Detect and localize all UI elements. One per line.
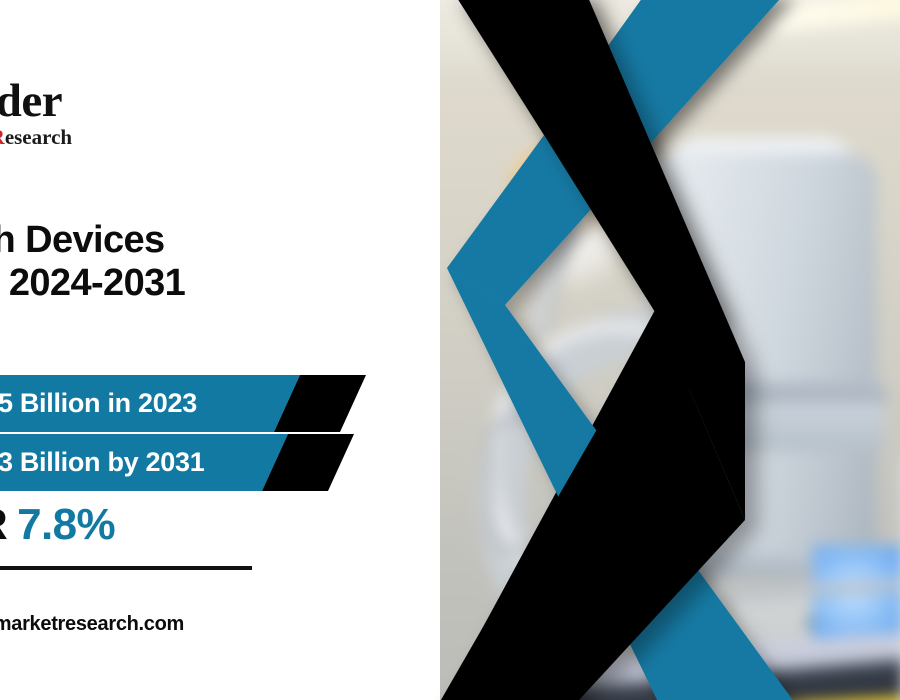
page-title: Global Biotech Devices Market 2024-2031 (0, 176, 440, 305)
brand-logo[interactable]: Insider MarketResearch (0, 78, 132, 156)
stat-banner-2023-label: USD 20.5 Billion in 2023 (0, 375, 300, 432)
stat-banner-2023: USD 20.5 Billion in 2023 (0, 375, 380, 432)
cagr-line: CAGR7.8% (0, 500, 115, 550)
cagr-label: CAGR (0, 500, 7, 549)
website-url[interactable]: www.insidermarketresearch.com (0, 613, 184, 636)
cagr-value: 7.8% (17, 500, 115, 549)
stat-banner-2031-label: USD 37.3 Billion by 2031 (0, 434, 288, 491)
logo-wordmark: Insider (0, 78, 132, 125)
stat-banner-2031: USD 37.3 Billion by 2031 (0, 434, 380, 491)
logo-tagline: MarketResearch (0, 127, 132, 148)
logo-research-rest: esearch (5, 125, 72, 149)
medical-imaging-room-photo (440, 0, 900, 700)
divider-rule (0, 566, 252, 570)
c-arm-handle (486, 413, 575, 555)
photo-content (440, 0, 900, 700)
content-panel: Insider MarketResearch Global Biotech De… (0, 0, 440, 700)
poster-canvas: Insider MarketResearch Global Biotech De… (0, 0, 900, 700)
